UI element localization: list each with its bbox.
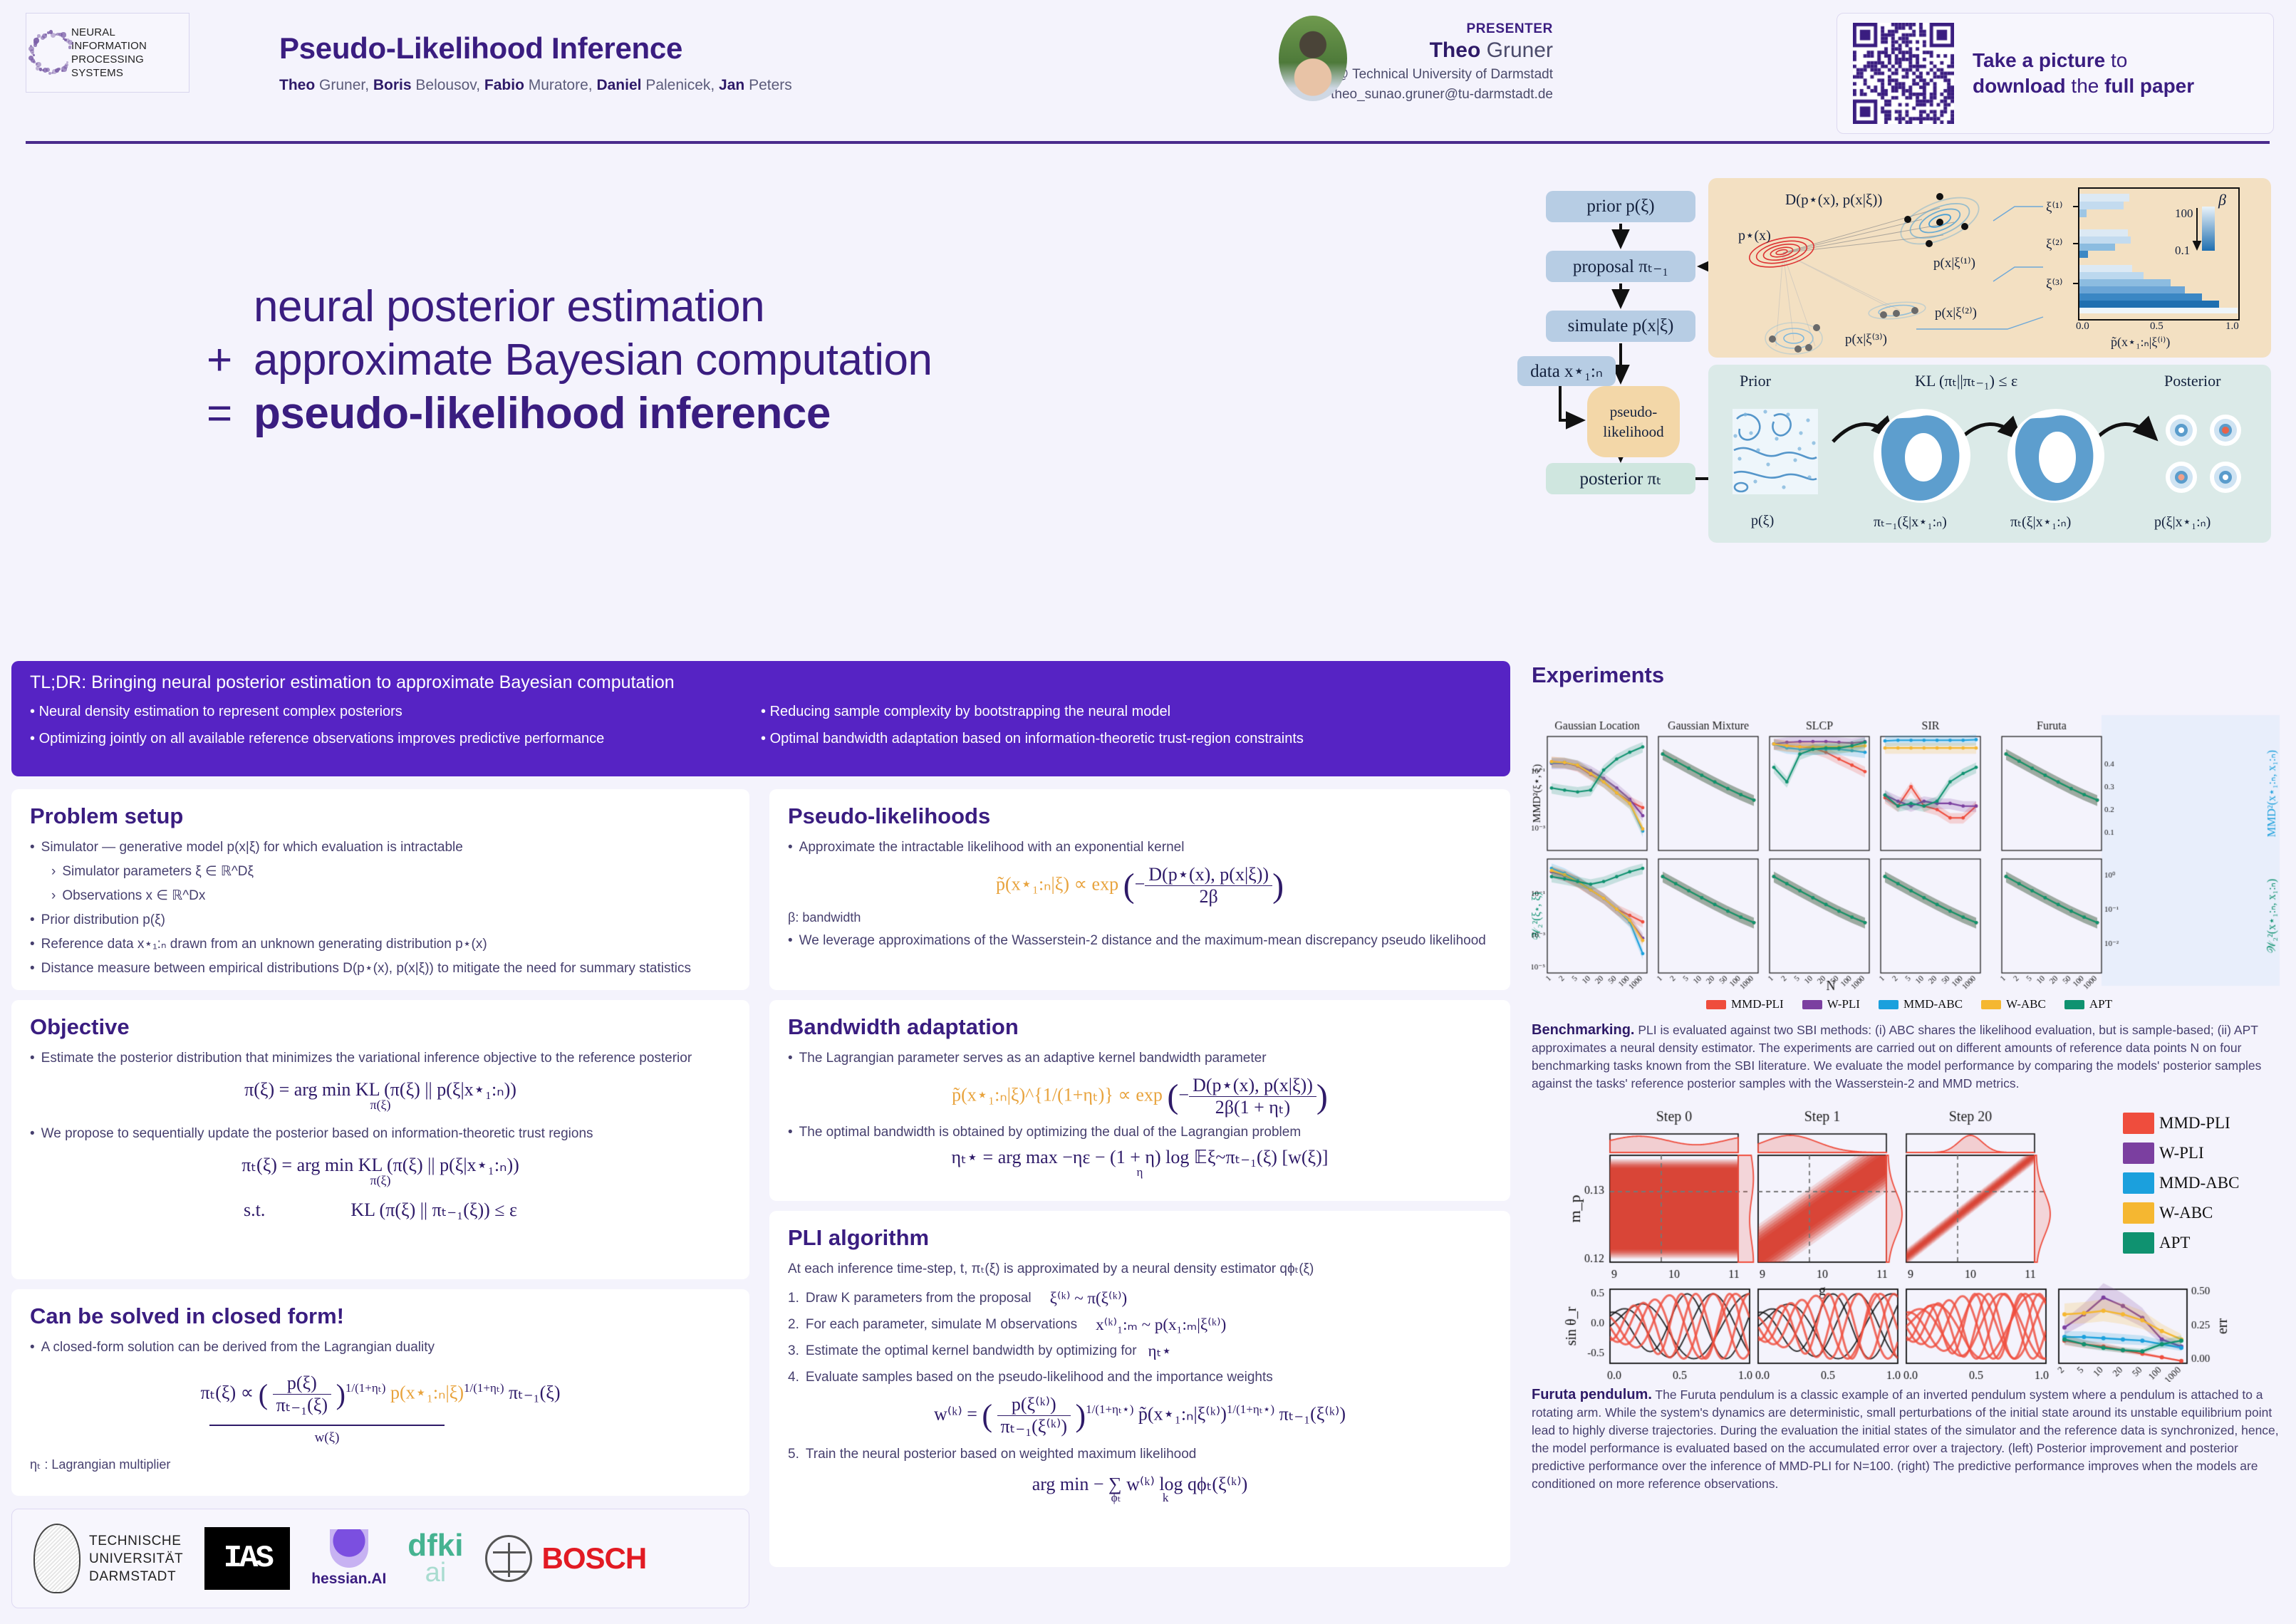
card-bandwidth-adaptation: Bandwidth adaptation •The Lagrangian par… xyxy=(769,1000,1510,1201)
teal-caption-3: p(ξ|x⋆₁:ₙ) xyxy=(2154,513,2211,531)
pseudo-likelihood-title: Pseudo-likelihoods xyxy=(788,803,1492,829)
legend-swatch-mmd-abc xyxy=(1879,1000,1898,1009)
problem-setup-title: Problem setup xyxy=(30,803,731,829)
trust-region-panel: Prior KL (πₜ||πₜ₋₁) ≤ ε Posterior xyxy=(1708,365,2271,543)
flow-node-data: data x⋆₁:ₙ xyxy=(1517,356,1616,386)
hero-text-3: pseudo-likelihood inference xyxy=(254,388,831,439)
tldr-bold-a: neural posterior estimation xyxy=(162,672,372,692)
neurips-line-2: PROCESSING SYSTEMS xyxy=(71,53,189,80)
beta-bandwidth-note: β: bandwidth xyxy=(788,910,1492,925)
presenter-first-name: Theo xyxy=(1430,38,1481,62)
bullet: •Approximate the intractable likelihood … xyxy=(788,838,1492,857)
hero-row-2: + approximate Bayesian computation xyxy=(207,335,932,385)
neurips-line-1: NEURAL INFORMATION xyxy=(71,26,189,53)
avatar xyxy=(1279,16,1347,101)
closed-eq-lhs: πₜ(ξ) ∝ xyxy=(200,1382,254,1402)
closed-eq-power: 1/(1+ηₜ) xyxy=(346,1381,386,1395)
tldr-lead-b: to xyxy=(371,672,396,692)
tldr-item: • Optimizing jointly on all available re… xyxy=(30,729,737,749)
ias-logo: IAS xyxy=(204,1527,290,1590)
bandwidth-equation-1: p̃(x⋆₁:ₙ|ξ)^{1/(1+ηₜ)} ∝ exp (− D(p⋆(x),… xyxy=(788,1075,1492,1118)
w-eq-mid: p̃(x⋆₁:ₙ|ξ⁽ᵏ⁾) xyxy=(1138,1403,1227,1424)
bosch-logo: BOSCH xyxy=(485,1535,647,1582)
bullet: •Simulator — generative model p(x|ξ) for… xyxy=(30,838,731,857)
tldr-banner: TL;DR: Bringing neural posterior estimat… xyxy=(11,661,1510,776)
tldr-label: TL;DR: xyxy=(30,672,86,692)
bullet: •The Lagrangian parameter serves as an a… xyxy=(788,1048,1492,1068)
tldr-column-right: • Reducing sample complexity by bootstra… xyxy=(761,702,1492,756)
tu-darmstadt-text: TECHNISCHE UNIVERSITÄT DARMSTADT xyxy=(89,1532,183,1586)
flow-node-posterior: posterior πₜ xyxy=(1546,463,1695,494)
bw-eq2-subscript: η xyxy=(788,1165,1492,1180)
sub-bullet: ›Observations x ∈ ℝ^Dx xyxy=(51,886,731,905)
legend-item: MMD-ABC xyxy=(1879,997,1963,1011)
tldr-bold-b: approximate Bayesian computation xyxy=(396,672,675,692)
bandwidth-title: Bandwidth adaptation xyxy=(788,1014,1492,1040)
flow-node-simulate: simulate p(x|ξ) xyxy=(1546,311,1695,342)
tldr-item: • Neural density estimation to represent… xyxy=(30,702,737,722)
bullet: •We propose to sequentially update the p… xyxy=(30,1124,731,1143)
bosch-mark-icon xyxy=(485,1535,532,1582)
hist-xlabel: p̃(x⋆₁:ₙ|ξ⁽ⁱ⁾) xyxy=(2111,335,2170,350)
qr-caption: Take a picture to download the full pape… xyxy=(1973,48,2194,99)
pl-eq-lhs: p̃(x⋆₁:ₙ|ξ) ∝ exp xyxy=(996,873,1118,894)
tldr-item: • Optimal bandwidth adaptation based on … xyxy=(761,729,1468,749)
st-label: s.t. xyxy=(244,1199,265,1221)
furuta-legend: MMD-PLI W-PLI MMD-ABC W-ABC APT xyxy=(2123,1113,2287,1262)
card-objective: Objective •Estimate the posterior distri… xyxy=(11,1000,749,1279)
hero-row-3: = pseudo-likelihood inference xyxy=(207,388,932,439)
flow-node-proposal: proposal πₜ₋₁ xyxy=(1546,251,1695,282)
card-closed-form: Can be solved in closed form! •A closed-… xyxy=(11,1289,749,1496)
pli-step: 5. Train the neural posterior based on w… xyxy=(788,1445,1492,1464)
pli-step: 2. For each parameter, simulate M observ… xyxy=(788,1315,1492,1334)
tu-darmstadt-logo: TECHNISCHE UNIVERSITÄT DARMSTADT xyxy=(33,1524,183,1593)
bosch-text: BOSCH xyxy=(542,1541,647,1576)
pstar-label: p⋆(x) xyxy=(1738,227,1771,244)
experiments-section: Experiments MMD-PLI W-PLI MMD-ABC W-ABC … xyxy=(1532,662,2287,1603)
beta-min-label: 0.1 xyxy=(2175,244,2190,258)
legend-swatch-apt xyxy=(2123,1232,2154,1254)
pli-step: 3. Estimate the optimal kernel bandwidth… xyxy=(788,1341,1492,1360)
train-eq-subscript: ϕₜ k xyxy=(788,1491,1492,1505)
legend-swatch-w-pli xyxy=(2123,1142,2154,1164)
pli-weight-equation: w⁽ᵏ⁾ = ( p(ξ⁽ᵏ⁾) πₜ₋₁(ξ⁽ᵏ⁾) )1/(1+ηₜ⋆) p… xyxy=(788,1394,1492,1437)
prior-heading: Prior xyxy=(1740,372,1771,390)
hessian-mark-icon xyxy=(330,1529,368,1568)
qr-card[interactable]: Take a picture to download the full pape… xyxy=(1837,13,2274,134)
xi1-label: ξ⁽¹⁾ xyxy=(2046,199,2063,216)
legend-item: MMD-PLI xyxy=(2123,1113,2287,1134)
benchmarking-caption: Benchmarking. PLI is evaluated against t… xyxy=(1532,1021,2287,1093)
benchmark-charts xyxy=(1532,708,2287,993)
hist-xtick-2: 1.0 xyxy=(2225,321,2239,333)
legend-swatch-w-abc xyxy=(1981,1000,2001,1009)
objective-equation-2: πₜ(ξ) = arg min KL (π(ξ) || p(ξ|x⋆₁:ₙ)) … xyxy=(30,1155,731,1188)
pli-step: 4. Evaluate samples based on the pseudo-… xyxy=(788,1368,1492,1387)
hero-text-1: neural posterior estimation xyxy=(254,281,764,332)
objective-constraint: s.t. KL (π(ξ) || πₜ₋₁(ξ)) ≤ ε xyxy=(30,1199,731,1221)
w-eq-lhs: w⁽ᵏ⁾ = xyxy=(934,1403,977,1424)
bw-eq-fraction: D(p⋆(x), p(x|ξ)) 2β(1 + ηₜ) xyxy=(1189,1075,1316,1118)
legend-swatch-apt xyxy=(2064,1000,2084,1009)
benchmarking-caption-bold: Benchmarking. xyxy=(1532,1022,1634,1038)
teal-caption-0: p(ξ) xyxy=(1751,513,1774,529)
closed-eq-power-2: 1/(1+ηₜ) xyxy=(464,1381,504,1395)
teal-caption-1: πₜ₋₁(ξ|x⋆₁:ₙ) xyxy=(1874,513,1947,531)
legend-item: APT xyxy=(2064,997,2112,1011)
hessian-text: hessian.AI xyxy=(311,1571,386,1588)
legend-item: W-PLI xyxy=(1802,997,1860,1011)
bullet: •Distance measure between empirical dist… xyxy=(30,959,731,978)
neurips-logo-text: NEURAL INFORMATION PROCESSING SYSTEMS xyxy=(71,26,189,80)
tldr-column-left: • Neural density estimation to represent… xyxy=(30,702,761,756)
qr-line2-b: the xyxy=(2066,75,2104,97)
title-block: Pseudo-Likelihood Inference Theo Gruner,… xyxy=(279,31,792,94)
w-eq-tail: πₜ₋₁(ξ⁽ᵏ⁾) xyxy=(1279,1403,1346,1424)
px-xi2-label: p(x|ξ⁽²⁾) xyxy=(1935,305,1977,321)
w-eq-power-2: 1/(1+ηₜ⋆) xyxy=(1227,1402,1274,1416)
objective-equation-1: π(ξ) = arg min KL (π(ξ) || p(ξ|x⋆₁:ₙ)) π… xyxy=(30,1079,731,1113)
sub-bullet: ›Simulator parameters ξ ∈ ℝ^Dξ xyxy=(51,862,731,881)
beta-max-label: 100 xyxy=(2175,207,2193,221)
experiments-title: Experiments xyxy=(1532,662,2287,688)
pli-intro: At each inference time-step, t, πₜ(ξ) is… xyxy=(788,1259,1492,1279)
legend-item: W-ABC xyxy=(1981,997,2046,1011)
bullet: •We leverage approximations of the Wasse… xyxy=(788,931,1492,950)
posterior-heading: Posterior xyxy=(2164,372,2220,390)
closed-form-equation: πₜ(ξ) ∝ ( p(ξ) πₜ₋₁(ξ) )1/(1+ηₜ) p(x⋆₁:ₙ… xyxy=(30,1373,731,1446)
author-list: Theo Gruner, Boris Belousov, Fabio Murat… xyxy=(279,77,792,94)
objective-eq1-subscript: π(ξ) xyxy=(30,1098,731,1113)
bandwidth-equation-2: ηₜ⋆ = arg max −ηε − (1 + η) log 𝔼ξ~πₜ₋₁(… xyxy=(788,1147,1492,1180)
hero-row-1: neural posterior estimation xyxy=(207,281,932,332)
legend-swatch-mmd-abc xyxy=(2123,1172,2154,1194)
poster-header: NEURAL INFORMATION PROCESSING SYSTEMS Ps… xyxy=(0,0,2296,153)
qr-code-icon[interactable] xyxy=(1853,23,1954,124)
closed-eq-fraction: p(ξ) πₜ₋₁(ξ) xyxy=(273,1373,332,1416)
athena-head-icon xyxy=(33,1524,80,1593)
hist-xtick-0: 0.0 xyxy=(2076,321,2089,333)
legend-swatch-w-pli xyxy=(1802,1000,1822,1009)
sponsor-logos: TECHNISCHE UNIVERSITÄT DARMSTADT IAS hes… xyxy=(11,1509,749,1608)
bullet: •Estimate the posterior distribution tha… xyxy=(30,1048,731,1068)
legend-item: W-ABC xyxy=(2123,1202,2287,1224)
qr-line1-rest: to xyxy=(2105,49,2127,71)
hessian-ai-logo: hessian.AI xyxy=(311,1529,386,1588)
qr-line1-bold: Take a picture xyxy=(1973,49,2105,71)
tldr-title: TL;DR: Bringing neural posterior estimat… xyxy=(30,672,1492,693)
closed-form-title: Can be solved in closed form! xyxy=(30,1303,731,1329)
w-eq-power: 1/(1+ηₜ⋆) xyxy=(1086,1402,1133,1416)
closed-eq-brace-label: w(ξ) xyxy=(30,1415,731,1446)
pli-training-equation: arg min − ∑ w⁽ᵏ⁾ log qϕₜ(ξ⁽ᵏ⁾) ϕₜ k xyxy=(788,1474,1492,1505)
bullet: •Reference data x⋆₁:ₙ drawn from an unkn… xyxy=(30,935,731,954)
hero-equation: neural posterior estimation + approximat… xyxy=(207,281,932,442)
kl-heading: KL (πₜ||πₜ₋₁) ≤ ε xyxy=(1915,372,2017,390)
neurips-logo: NEURAL INFORMATION PROCESSING SYSTEMS xyxy=(26,13,189,93)
qr-line2-a: download xyxy=(1973,75,2066,97)
hero-op-3: = xyxy=(207,388,254,439)
legend-item: APT xyxy=(2123,1232,2287,1254)
pseudo-label-2: likelihood xyxy=(1603,422,1663,442)
pl-eq-fraction: D(p⋆(x), p(x|ξ)) 2β xyxy=(1145,864,1272,907)
closed-eq-mid: p(x⋆₁:ₙ|ξ) xyxy=(390,1382,464,1402)
closed-eq-tail: πₜ₋₁(ξ) xyxy=(509,1382,561,1402)
flow-node-prior: prior p(ξ) xyxy=(1546,191,1695,222)
closed-form-footnote: ηₜ : Lagrangian multiplier xyxy=(30,1457,731,1472)
bullet: •The optimal bandwidth is obtained by op… xyxy=(788,1123,1492,1142)
pli-algorithm-title: PLI algorithm xyxy=(788,1225,1492,1251)
method-figure: prior p(ξ) proposal πₜ₋₁ simulate p(x|ξ)… xyxy=(1517,178,2280,570)
pseudo-label-1: pseudo- xyxy=(1610,402,1658,422)
tldr-item: • Reducing sample complexity by bootstra… xyxy=(761,702,1468,722)
w-eq-fraction: p(ξ⁽ᵏ⁾) πₜ₋₁(ξ⁽ᵏ⁾) xyxy=(997,1394,1071,1437)
px-xi1-label: p(x|ξ⁽¹⁾) xyxy=(1933,255,1975,271)
bullet: •A closed-form solution can be derived f… xyxy=(30,1338,731,1357)
xi3-label: ξ⁽³⁾ xyxy=(2046,276,2063,293)
dfki-logo: dfki ai xyxy=(407,1531,463,1585)
tldr-columns: • Neural density estimation to represent… xyxy=(30,702,1492,756)
legend-swatch-mmd-pli xyxy=(1706,1000,1726,1009)
objective-eq2-subscript: π(ξ) xyxy=(30,1173,731,1188)
hist-xtick-1: 0.5 xyxy=(2150,321,2163,333)
qr-line2-c: full paper xyxy=(2104,75,2194,97)
bullet: •Prior distribution p(ξ) xyxy=(30,910,731,930)
legend-item: MMD-ABC xyxy=(2123,1172,2287,1194)
hero-op-2: + xyxy=(207,335,254,385)
legend-swatch-mmd-pli xyxy=(2123,1113,2154,1134)
card-problem-setup: Problem setup •Simulator — generative mo… xyxy=(11,789,749,990)
distance-label: D(p⋆(x), p(x|ξ)) xyxy=(1785,191,1882,209)
card-pli-algorithm: PLI algorithm At each inference time-ste… xyxy=(769,1211,1510,1567)
furuta-caption-bold: Furuta pendulum. xyxy=(1532,1387,1652,1402)
objective-title: Objective xyxy=(30,1014,731,1040)
header-divider xyxy=(26,141,2270,144)
distance-panel: D(p⋆(x), p(x|ξ)) p⋆(x) p(x|ξ⁽¹⁾) p(x|ξ⁽²… xyxy=(1708,178,2271,358)
teal-caption-2: πₜ(ξ|x⋆₁:ₙ) xyxy=(2010,513,2071,531)
legend-item: MMD-PLI xyxy=(1706,997,1784,1011)
presenter-last-name: Gruner xyxy=(1480,38,1553,62)
page-title: Pseudo-Likelihood Inference xyxy=(279,31,792,66)
pli-step: 1. Draw K parameters from the proposal ξ… xyxy=(788,1289,1492,1308)
flow-node-pseudo-likelihood: pseudo- likelihood xyxy=(1587,386,1680,457)
card-pseudo-likelihoods: Pseudo-likelihoods •Approximate the intr… xyxy=(769,789,1510,990)
neurips-swirl-icon xyxy=(31,17,71,88)
beta-label: β xyxy=(2218,191,2226,209)
furuta-charts: MMD-PLI W-PLI MMD-ABC W-ABC APT xyxy=(1532,1103,2287,1382)
legend-item: W-PLI xyxy=(2123,1142,2287,1164)
bw-eq-lhs: p̃(x⋆₁:ₙ|ξ)^{1/(1+ηₜ)} ∝ exp xyxy=(952,1084,1163,1105)
xi2-label: ξ⁽²⁾ xyxy=(2046,236,2063,253)
pseudo-likelihood-equation: p̃(x⋆₁:ₙ|ξ) ∝ exp (− D(p⋆(x), p(x|ξ)) 2β… xyxy=(788,864,1492,907)
legend-swatch-w-abc xyxy=(2123,1202,2154,1224)
constraint-equation: KL (π(ξ) || πₜ₋₁(ξ)) ≤ ε xyxy=(350,1199,517,1221)
benchmark-legend: MMD-PLI W-PLI MMD-ABC W-ABC APT xyxy=(1532,997,2287,1011)
furuta-caption: Furuta pendulum. The Furuta pendulum is … xyxy=(1532,1386,2287,1493)
hero-text-2: approximate Bayesian computation xyxy=(254,335,932,385)
px-xi3-label: p(x|ξ⁽³⁾) xyxy=(1845,331,1887,348)
tldr-lead-a: Bringing xyxy=(86,672,162,692)
benchmark-canvas xyxy=(1532,708,2287,993)
